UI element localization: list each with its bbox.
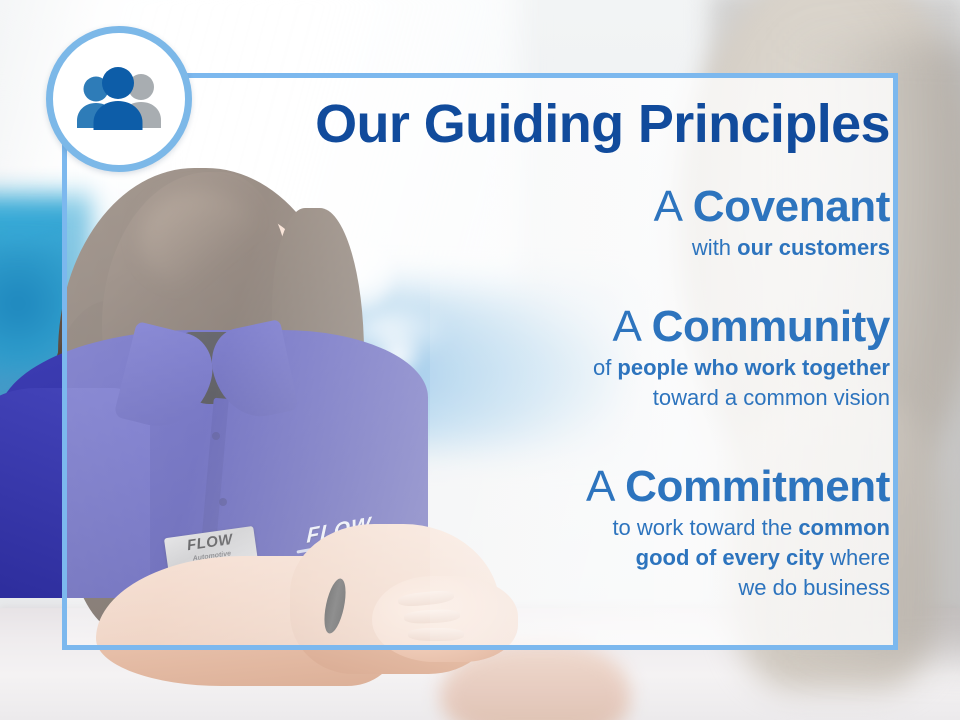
text-content: Our Guiding Principles A Covenantwith ou…: [62, 73, 898, 650]
principle-keyword: Covenant: [693, 182, 890, 231]
principle-covenant: A Covenantwith our customers: [654, 181, 890, 263]
principle-subline-emphasis: people who work together: [617, 355, 890, 380]
principle-subline: we do business: [586, 573, 890, 603]
principle-subline-text: to work toward the: [612, 515, 798, 540]
principle-headline: A Covenant: [654, 181, 890, 233]
poster-canvas: FLOW FLOW Automotive Our G: [0, 0, 960, 720]
principle-article: A: [612, 302, 651, 351]
principle-article: A: [654, 182, 693, 231]
principle-keyword: Community: [652, 302, 890, 351]
principle-headline: A Community: [593, 301, 890, 353]
principle-subline-text: with: [692, 235, 737, 260]
page-title: Our Guiding Principles: [62, 95, 890, 153]
principle-subline-text: we do business: [738, 575, 890, 600]
principle-subline: good of every city where: [586, 543, 890, 573]
principle-subline: of people who work together: [593, 353, 890, 383]
principle-subline-text: toward a common vision: [653, 385, 890, 410]
principle-subline-emphasis: common: [798, 515, 890, 540]
principle-subline-text: where: [824, 545, 890, 570]
principle-subline-emphasis: our customers: [737, 235, 890, 260]
principle-subline: toward a common vision: [593, 383, 890, 413]
principle-headline: A Commitment: [586, 461, 890, 513]
principle-subline-text: of: [593, 355, 617, 380]
principle-commitment: A Commitmentto work toward the commongoo…: [586, 461, 890, 603]
principle-community: A Communityof people who work togetherto…: [593, 301, 890, 413]
principle-article: A: [586, 462, 625, 511]
principle-subline-emphasis: good of every city: [636, 545, 824, 570]
principle-keyword: Commitment: [625, 462, 890, 511]
principle-subline: to work toward the common: [586, 513, 890, 543]
principle-subline: with our customers: [654, 233, 890, 263]
